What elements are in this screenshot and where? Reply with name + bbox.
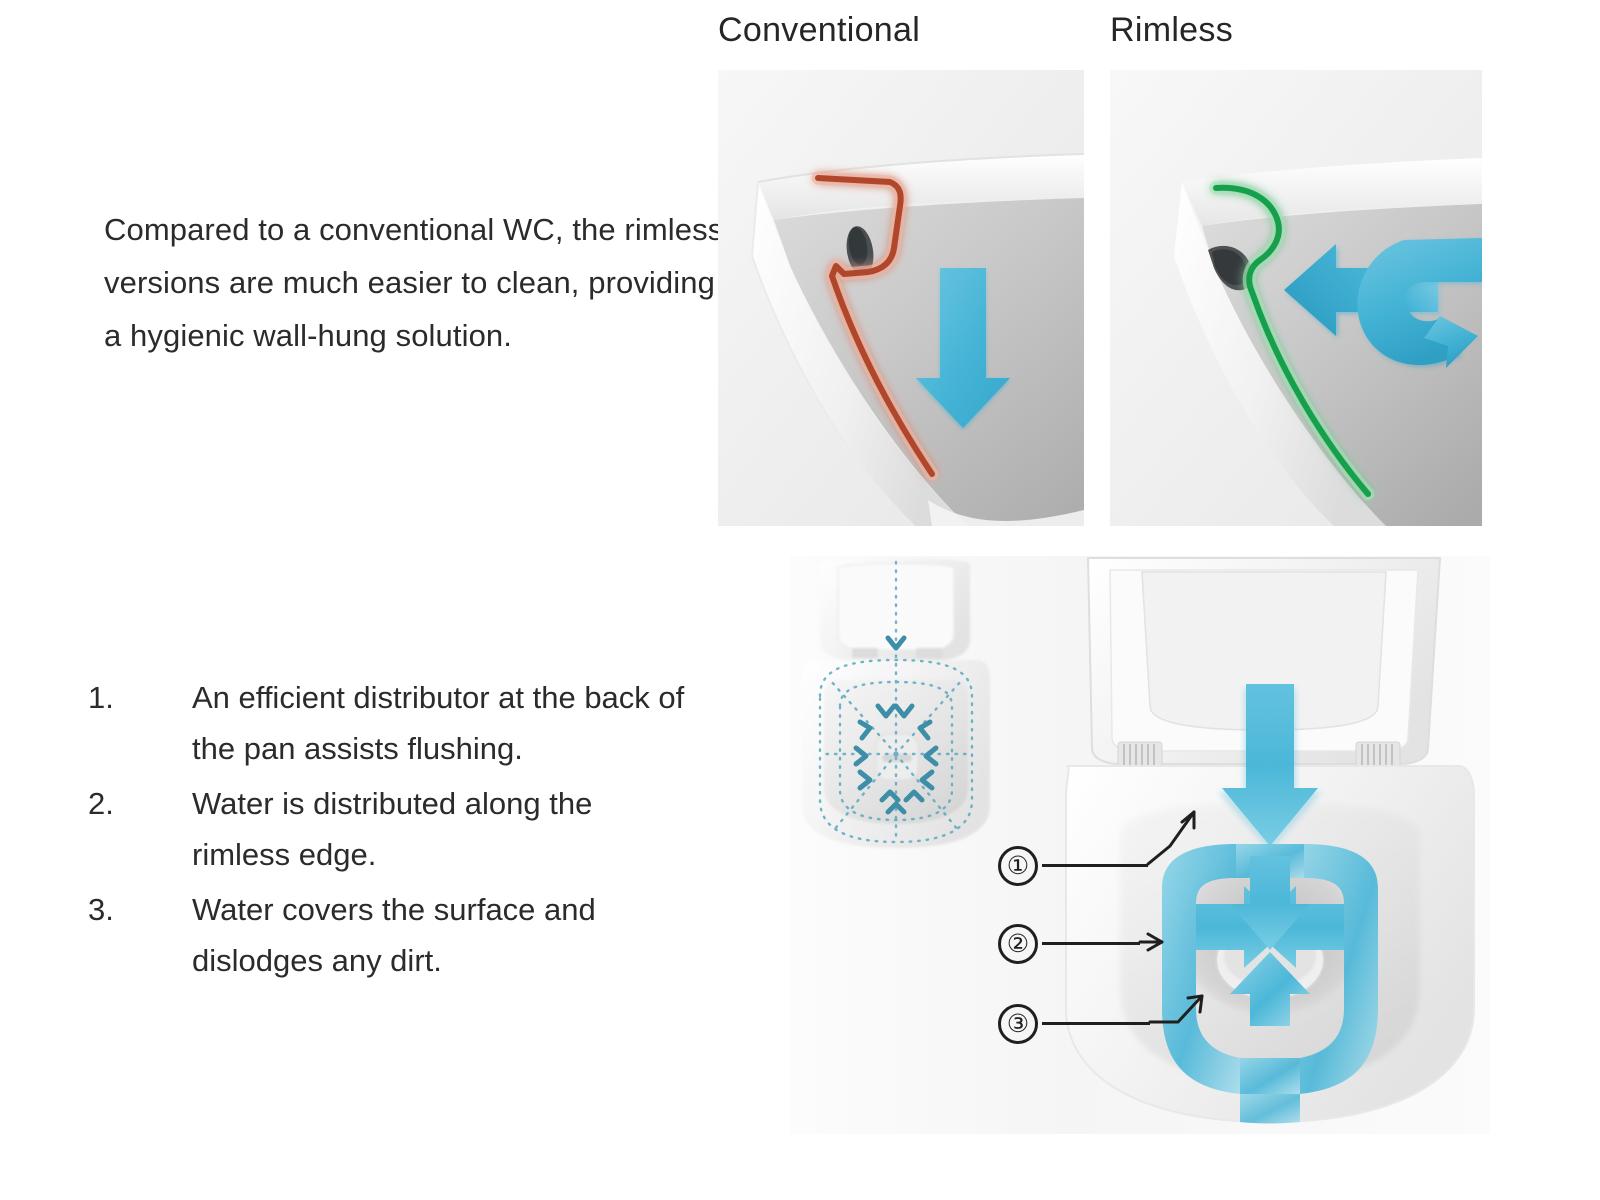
rimless-bowl-illustration [1110,70,1482,526]
callout-number-1: ① [998,846,1038,886]
step-number: 1. [88,672,192,723]
step-number: 2. [88,778,192,829]
conventional-bowl-illustration [718,70,1084,526]
callout-number-2: ② [998,924,1038,964]
panel-title-rimless: Rimless [1110,10,1233,50]
intro-paragraph: Compared to a conventional WC, the rimle… [104,203,724,362]
panel-title-conventional: Conventional [718,10,920,50]
callout-leader-line-2 [1042,942,1140,945]
callout-number-3: ③ [998,1004,1038,1044]
rimless-bowl-image [1110,70,1482,526]
callout-leader-line-1 [1042,864,1148,867]
page-root: Compared to a conventional WC, the rimle… [0,0,1600,1200]
step-text: Water is distributed along the rimless e… [192,778,688,880]
callout-leader-line-3 [1042,1022,1150,1025]
flow-diagram-panel: ① ② ③ [790,556,1490,1134]
step-number: 3. [88,884,192,935]
list-item: 2. Water is distributed along the rimles… [88,778,688,880]
conventional-bowl-image [718,70,1084,526]
list-item: 3. Water covers the surface and dislodge… [88,884,688,986]
list-item: 1. An efficient distributor at the back … [88,672,688,774]
step-text: An efficient distributor at the back of … [192,672,688,774]
steps-list: 1. An efficient distributor at the back … [88,672,688,990]
step-text: Water covers the surface and dislodges a… [192,884,688,986]
